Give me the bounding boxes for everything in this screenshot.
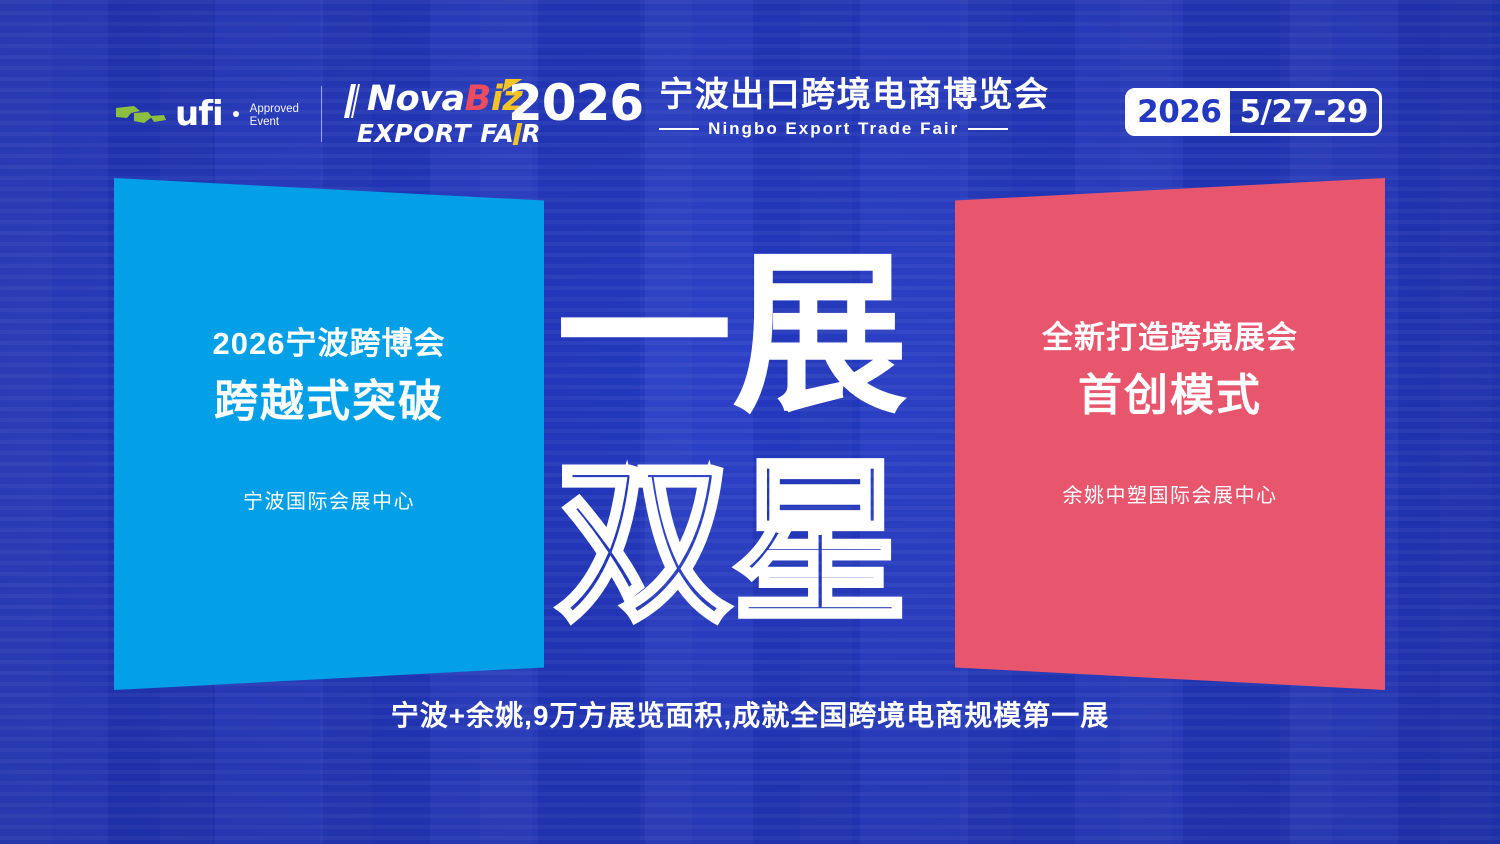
fair-title: 2026 宁波出口跨境电商博览会 Ningbo Export Trade Fai… bbox=[508, 78, 1050, 139]
fair-title-en-row: Ningbo Export Trade Fair bbox=[659, 119, 1050, 139]
rule-right bbox=[968, 128, 1008, 130]
date-badge: 2026 5/27-29 bbox=[1125, 88, 1382, 136]
date-badge-year: 2026 bbox=[1128, 91, 1230, 133]
ufi-approved-line2: Event bbox=[250, 116, 279, 128]
promo-poster: ufi Approved Event NovaBiz EXPORT FAR bbox=[0, 0, 1500, 844]
panel-right-line1: 全新打造跨境展会 bbox=[1042, 322, 1298, 353]
rule-left bbox=[659, 128, 699, 130]
ufi-approved-text: Approved Event bbox=[250, 103, 299, 129]
ufi-logo: ufi Approved Event bbox=[114, 97, 299, 131]
panel-ningbo: 2026宁波跨博会 跨越式突破 宁波国际会展中心 bbox=[114, 178, 544, 690]
ufi-approved-line1: Approved bbox=[250, 103, 299, 115]
date-badge-range: 5/27-29 bbox=[1230, 91, 1379, 133]
panel-right-line2: 首创模式 bbox=[1078, 374, 1262, 418]
fair-title-cn: 宁波出口跨境电商博览会 bbox=[659, 78, 1050, 114]
novabiz-i: i bbox=[491, 79, 503, 119]
fair-title-stack: 宁波出口跨境电商博览会 Ningbo Export Trade Fair bbox=[659, 78, 1050, 139]
panel-left-venue: 宁波国际会展中心 bbox=[243, 492, 415, 512]
tagline: 宁波+余姚,9万方展览面积,成就全国跨境电商规模第一展 bbox=[0, 694, 1500, 734]
novabiz-slashes-icon bbox=[344, 84, 360, 118]
panel-right-venue: 余姚中塑国际会展中心 bbox=[1063, 486, 1278, 506]
panel-left-line1: 2026宁波跨博会 bbox=[213, 328, 446, 359]
ufi-wordmark: ufi bbox=[175, 97, 223, 131]
panel-left-line2: 跨越式突破 bbox=[214, 380, 444, 424]
fair-year: 2026 bbox=[508, 78, 643, 128]
header-divider bbox=[321, 86, 322, 142]
header-logos: ufi Approved Event NovaBiz EXPORT FAR bbox=[114, 82, 541, 146]
novabiz-subtitle-part1: EXPORT FA bbox=[357, 119, 515, 148]
ufi-dot-icon bbox=[233, 111, 239, 117]
panel-yuyao: 全新打造跨境展会 首创模式 余姚中塑国际会展中心 bbox=[955, 178, 1385, 690]
fair-title-en: Ningbo Export Trade Fair bbox=[708, 119, 959, 139]
ufi-green-mark-icon bbox=[114, 99, 168, 129]
header: ufi Approved Event NovaBiz EXPORT FAR bbox=[0, 0, 1500, 180]
novabiz-nova: Nova bbox=[367, 79, 465, 119]
novabiz-b: B bbox=[465, 79, 491, 119]
